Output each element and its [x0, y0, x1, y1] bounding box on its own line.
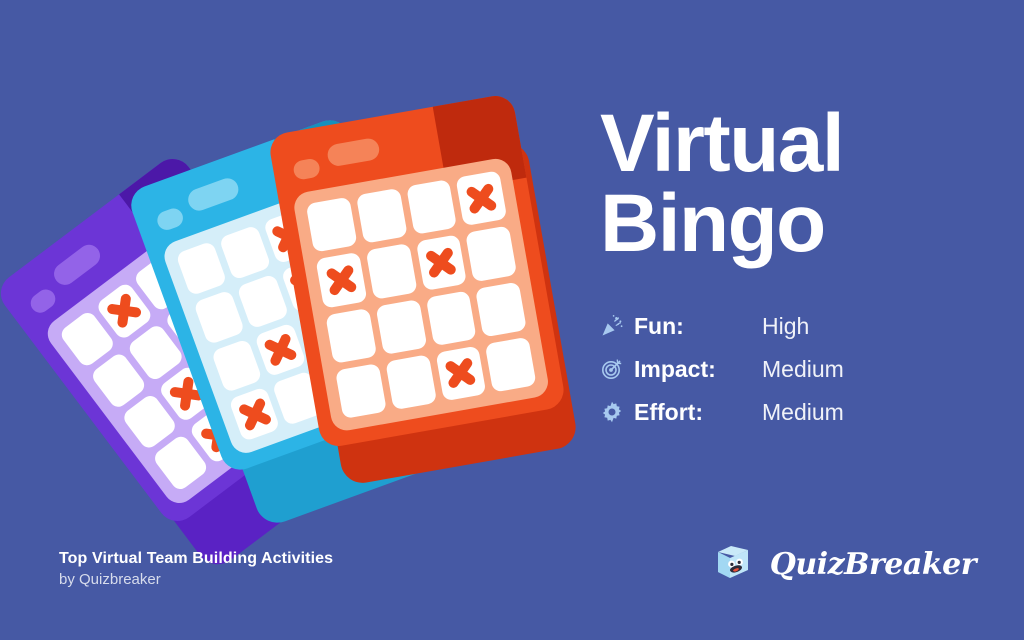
bingo-cell [254, 322, 306, 377]
bingo-cell [193, 289, 245, 344]
bingo-grid-orange [292, 156, 551, 433]
bingo-cell [485, 336, 537, 392]
attribute-value: High [762, 313, 809, 340]
bingo-x-mark-icon [229, 389, 280, 440]
bingo-cell [385, 354, 437, 410]
attribute-list: Fun: High Impact: Medium [600, 305, 1000, 434]
attribute-row-impact: Impact: Medium [600, 348, 1000, 391]
bingo-cell [475, 281, 527, 337]
bingo-cell [415, 234, 467, 290]
bingo-cell [465, 226, 517, 282]
bingo-x-mark-icon [438, 350, 484, 396]
attribute-label: Fun: [634, 313, 762, 340]
target-icon [600, 357, 634, 381]
card-pill-large [185, 175, 241, 213]
bingo-cell [237, 273, 289, 328]
bingo-cell [175, 241, 227, 296]
bingo-cell [325, 308, 377, 364]
bingo-cell [425, 290, 477, 346]
card-pill-large [50, 240, 105, 289]
bingo-cell [356, 188, 408, 244]
bingo-cell [335, 363, 387, 419]
bingo-x-mark-icon [255, 324, 306, 375]
bingo-cell [456, 170, 508, 226]
bingo-cell [365, 243, 417, 299]
attribute-label: Effort: [634, 399, 762, 426]
attribute-value: Medium [762, 399, 844, 426]
footer-credit: Top Virtual Team Building Activities by … [59, 550, 333, 588]
bingo-cell [375, 299, 427, 355]
bingo-cell [219, 225, 271, 280]
bingo-cell [228, 386, 280, 441]
bingo-x-mark-icon [418, 239, 464, 285]
attribute-row-effort: Effort: Medium [600, 391, 1000, 434]
three-bingo-cards-illustration [40, 70, 600, 520]
gear-icon [600, 400, 634, 424]
bingo-x-mark-icon [318, 257, 364, 303]
brand-name: QuizBreaker [770, 547, 976, 582]
card-pill-small [292, 158, 321, 181]
brand-logo: QuizBreaker [710, 539, 976, 590]
bingo-card-orange [267, 93, 566, 449]
bingo-cell [315, 252, 367, 308]
slide-canvas: Virtual Bingo Fun: High [0, 0, 1024, 640]
attribute-value: Medium [762, 356, 844, 383]
bingo-cell [406, 179, 458, 235]
bingo-cell [211, 338, 263, 393]
footer-title: Top Virtual Team Building Activities [59, 550, 333, 568]
attribute-row-fun: Fun: High [600, 305, 1000, 348]
quizbreaker-cube-mascot-icon [710, 539, 756, 590]
footer-subtitle: by Quizbreaker [59, 571, 333, 588]
content-column: Virtual Bingo Fun: High [600, 104, 1000, 434]
party-popper-icon [600, 314, 634, 338]
card-pill-large [326, 137, 381, 168]
bingo-cell [306, 197, 358, 253]
bingo-x-mark-icon [458, 175, 504, 221]
card-pill-small [27, 286, 59, 317]
card-pill-small [155, 206, 186, 233]
bingo-cell [435, 345, 487, 401]
page-title: Virtual Bingo [600, 104, 1000, 265]
attribute-label: Impact: [634, 356, 762, 383]
